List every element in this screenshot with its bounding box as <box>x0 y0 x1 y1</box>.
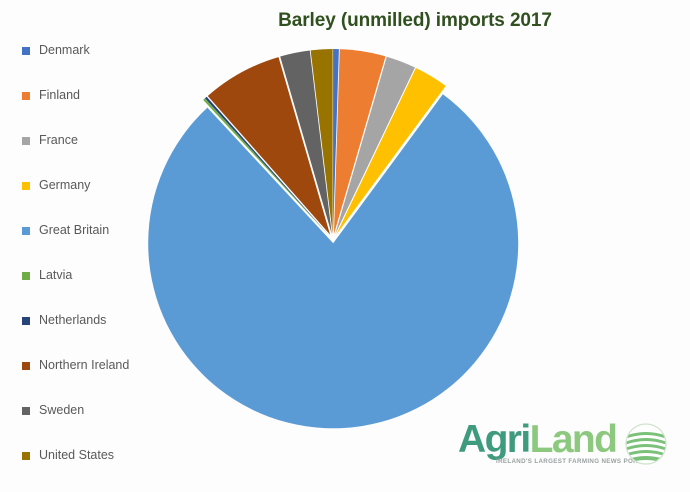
legend-item-label: Latvia <box>39 269 72 282</box>
legend-item-label: Germany <box>39 179 90 192</box>
legend-color-swatch <box>22 47 30 55</box>
agriland-logo: AgriLand IRELAND'S LARGEST FARMING NEWS … <box>458 418 668 480</box>
pie-chart-svg <box>140 48 530 438</box>
legend-color-swatch <box>22 272 30 280</box>
legend-item-label: Netherlands <box>39 314 106 327</box>
legend-item[interactable]: United States <box>22 433 172 478</box>
logo-word-agri: Agri <box>458 418 530 461</box>
logo-wordmark: AgriLand <box>458 420 616 459</box>
legend-color-swatch <box>22 452 30 460</box>
legend-item-label: Finland <box>39 89 80 102</box>
legend-color-swatch <box>22 182 30 190</box>
legend-color-swatch <box>22 92 30 100</box>
logo-word-land: Land <box>530 418 617 461</box>
legend-item-label: Sweden <box>39 404 84 417</box>
legend-item-label: Denmark <box>39 44 90 57</box>
legend-color-swatch <box>22 407 30 415</box>
legend-color-swatch <box>22 227 30 235</box>
legend-item-label: Great Britain <box>39 224 109 237</box>
pie-chart <box>140 48 530 438</box>
legend-color-swatch <box>22 137 30 145</box>
legend-item-label: France <box>39 134 78 147</box>
legend-color-swatch <box>22 317 30 325</box>
legend-item-label: Northern Ireland <box>39 359 129 372</box>
logo-field-circle-icon <box>624 422 668 466</box>
legend-color-swatch <box>22 362 30 370</box>
legend-item-label: United States <box>39 449 114 462</box>
